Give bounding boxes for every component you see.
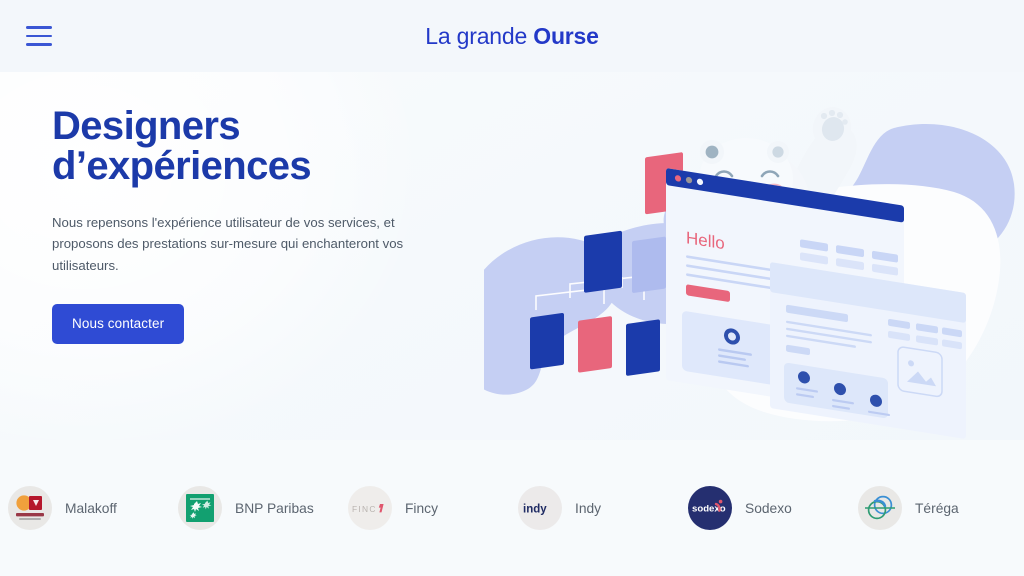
- hero-title-line-2: d’expériences: [52, 146, 432, 186]
- hamburger-bar: [26, 35, 52, 38]
- client-logo-strip: Malakoff BNP Paribas FINC: [0, 440, 1024, 576]
- hamburger-bar: [26, 43, 52, 46]
- terega-logo-icon: [858, 486, 902, 530]
- fincy-logo-icon: FINC: [348, 486, 392, 530]
- hero-section: Designers d’expériences Nous repensons l…: [0, 72, 1024, 440]
- brand-name-bold: Ourse: [533, 23, 598, 49]
- landing-page: La grande Ourse Designers d’expériences …: [0, 0, 1024, 576]
- contact-us-button[interactable]: Nous contacter: [52, 304, 184, 344]
- brand-logo[interactable]: La grande Ourse: [0, 25, 1024, 48]
- brand-name-light: La grande: [425, 23, 533, 49]
- indy-logo-icon: indy: [518, 486, 562, 530]
- client-logo-item[interactable]: BNP Paribas: [178, 486, 348, 530]
- hero-title-line-1: Designers: [52, 106, 432, 146]
- svg-text:indy: indy: [523, 504, 547, 516]
- client-logo-label: Indy: [575, 501, 601, 516]
- client-logo-item[interactable]: Téréga: [858, 486, 1024, 530]
- client-logo-item[interactable]: sodexo Sodexo: [688, 486, 858, 530]
- sodexo-logo-icon: sodexo: [688, 486, 732, 530]
- client-logo-label: BNP Paribas: [235, 501, 314, 516]
- client-logo-item[interactable]: Malakoff: [8, 486, 178, 530]
- malakoff-logo-icon: [8, 486, 52, 530]
- hamburger-bar: [26, 26, 52, 29]
- client-logo-item[interactable]: indy Indy: [518, 486, 688, 530]
- secondary-card-mockup: [770, 262, 966, 439]
- site-header: La grande Ourse: [0, 0, 1024, 72]
- client-logo-label: Malakoff: [65, 501, 117, 516]
- hamburger-menu-icon[interactable]: [26, 26, 52, 46]
- bnp-paribas-logo-icon: [178, 486, 222, 530]
- hero-subtitle: Nous repensons l'expérience utilisateur …: [52, 212, 414, 276]
- page-title: Designers d’expériences: [52, 106, 432, 186]
- svg-text:FINC: FINC: [352, 504, 377, 514]
- hero-copy-block: Designers d’expériences Nous repensons l…: [52, 106, 432, 344]
- polar-bear-ux-design-illustration: Hello: [484, 72, 1024, 440]
- client-logo-label: Sodexo: [745, 501, 792, 516]
- client-logo-label: Téréga: [915, 501, 959, 516]
- client-logo-label: Fincy: [405, 501, 438, 516]
- client-logo-item[interactable]: FINC Fincy: [348, 486, 518, 530]
